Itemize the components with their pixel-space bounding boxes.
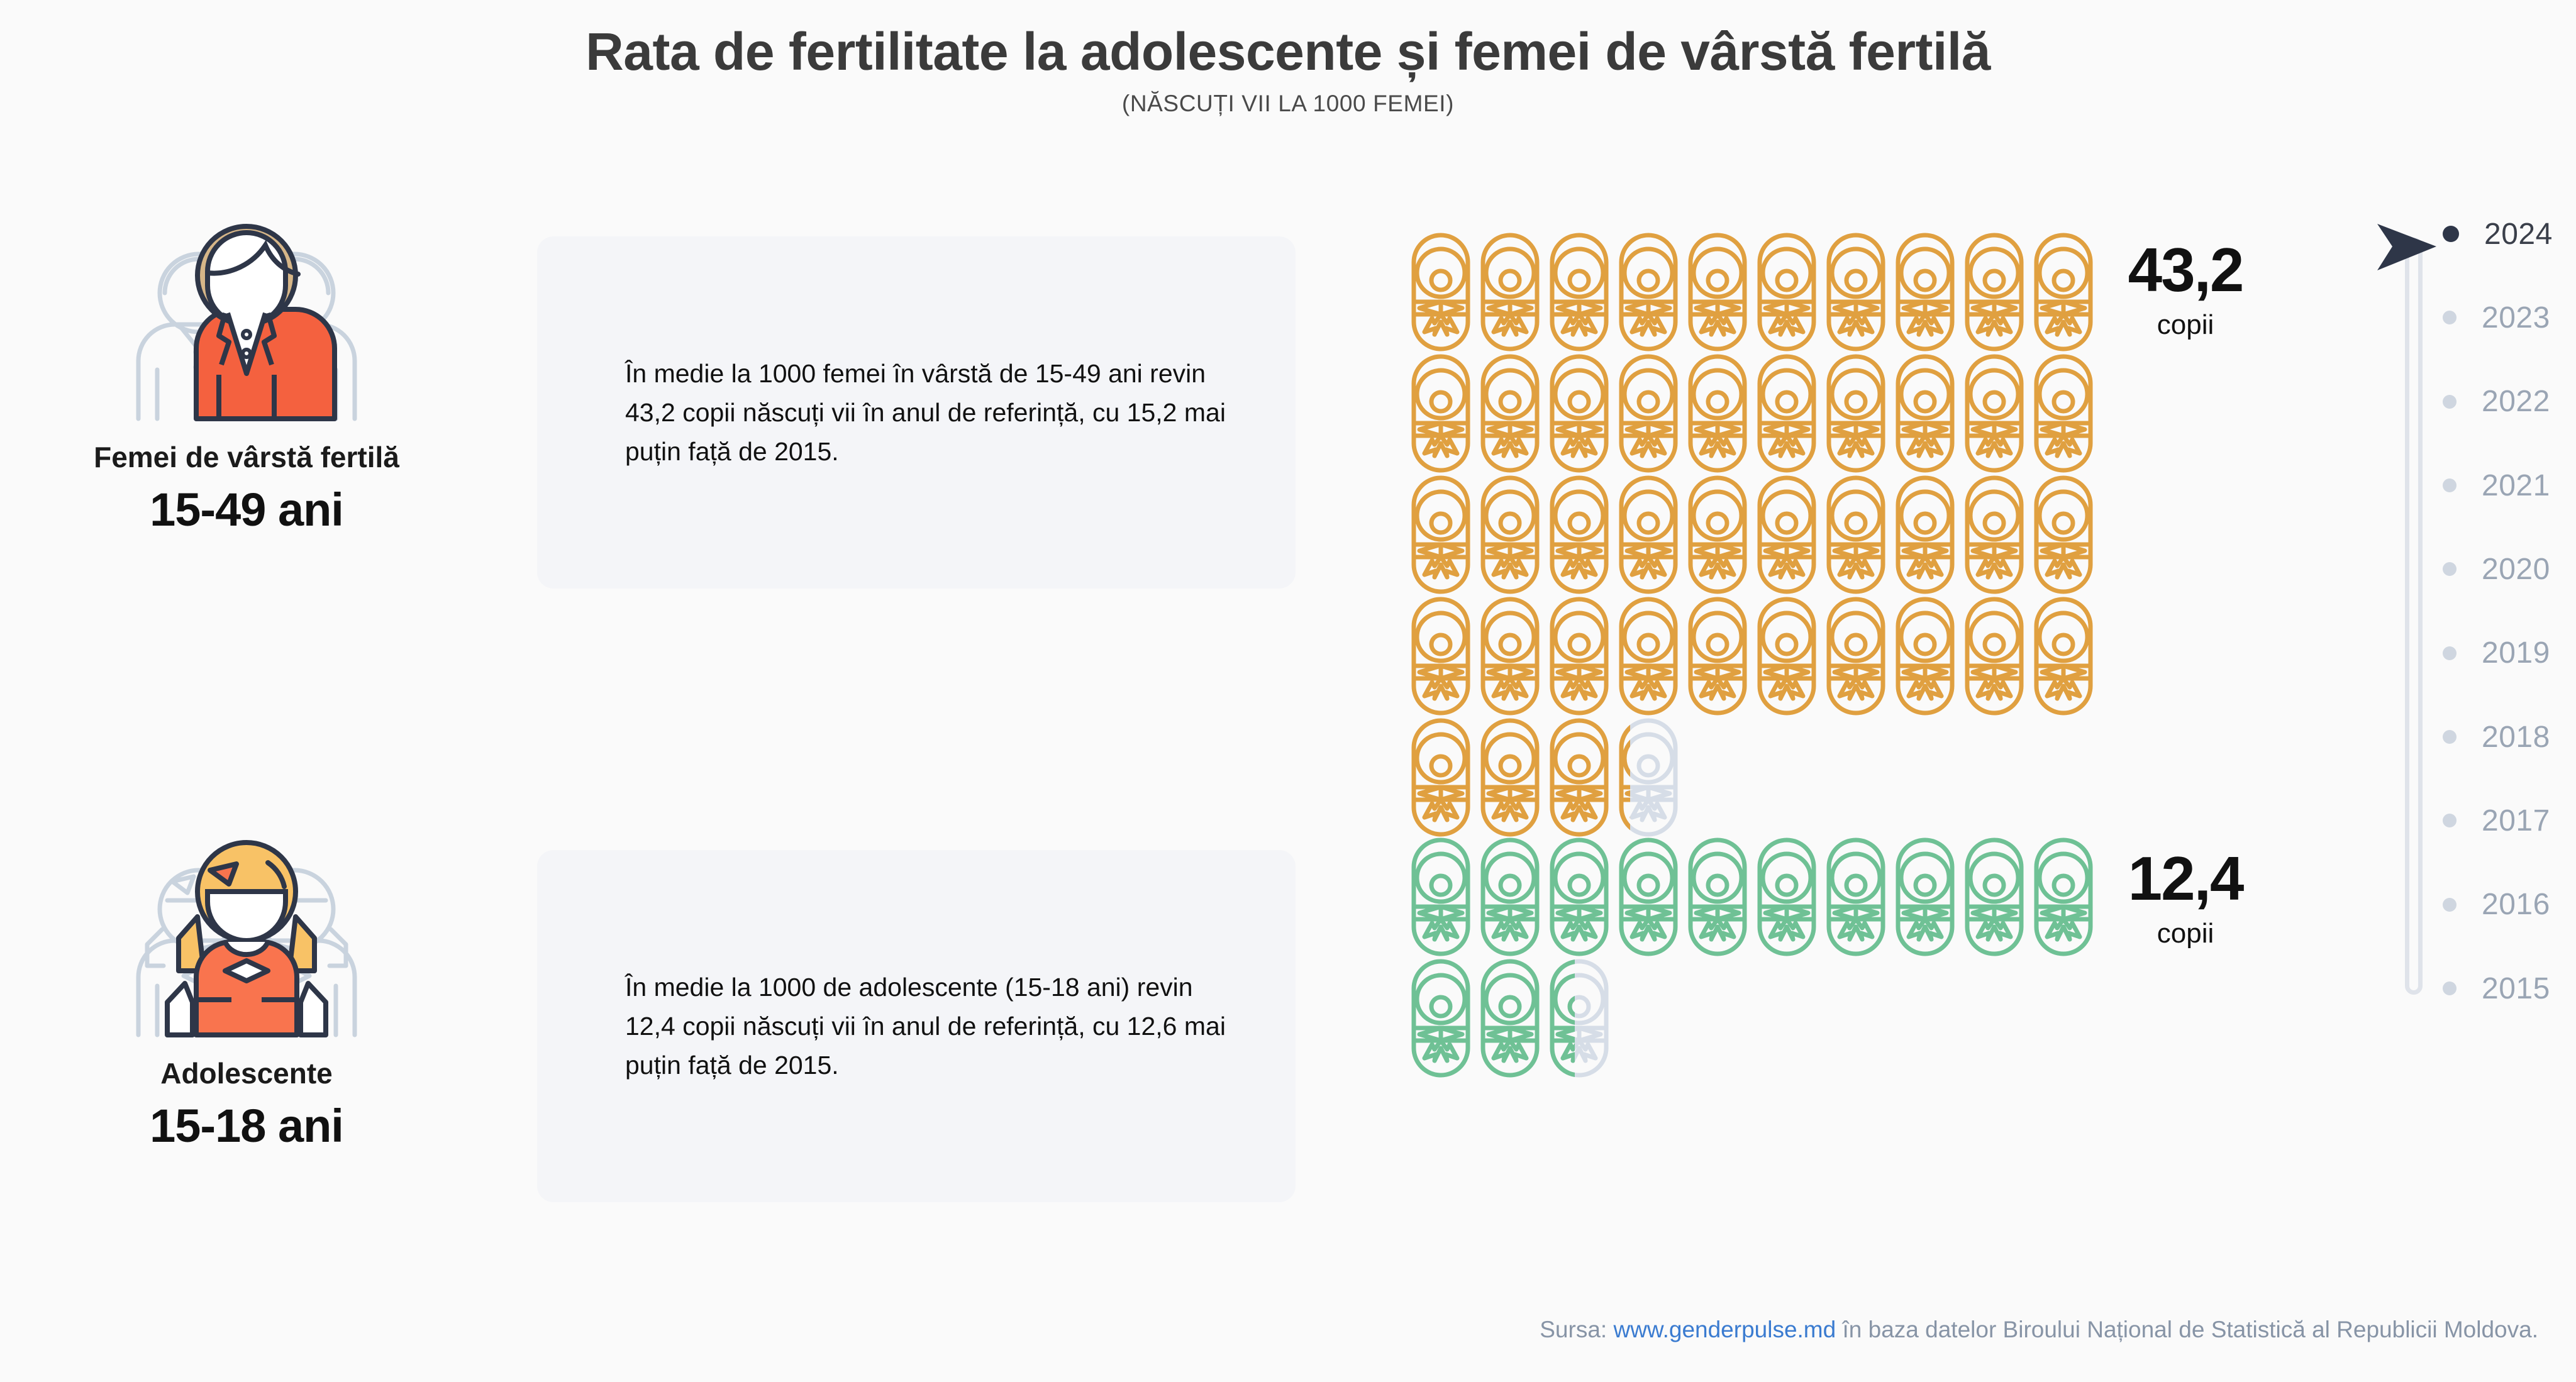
pictogram-icon bbox=[1824, 836, 1893, 958]
timeline-year-label: 2017 bbox=[2482, 804, 2550, 838]
timeline-year-label: 2018 bbox=[2482, 720, 2550, 755]
source-prefix: Sursa: bbox=[1540, 1317, 1613, 1342]
pictogram-icon-partial bbox=[1547, 958, 1616, 1079]
pictogram-icon-partial-fill bbox=[1616, 717, 1630, 838]
timeline-year-label: 2021 bbox=[2482, 468, 2550, 503]
pictogram-row bbox=[1409, 474, 2101, 595]
timeline-tick-2021[interactable]: 2021 bbox=[2443, 469, 2550, 502]
pictogram-icon-partial-fill bbox=[1547, 958, 1575, 1079]
timeline-tick-2016[interactable]: 2016 bbox=[2443, 888, 2550, 921]
pictogram-icon bbox=[1547, 353, 1616, 474]
pictogram-icon bbox=[1478, 595, 1547, 717]
timeline-year-label: 2015 bbox=[2482, 971, 2550, 1006]
persona-label: Adolescente bbox=[45, 1056, 448, 1090]
pictogram-icon bbox=[1409, 231, 1478, 353]
timeline-tick-2019[interactable]: 2019 bbox=[2443, 637, 2550, 670]
pictogram-icon bbox=[1409, 353, 1478, 474]
pictogram-icon bbox=[1755, 836, 1824, 958]
persona-adolescents: Adolescente 15-18 ani bbox=[45, 835, 448, 1153]
page-title: Rata de fertilitate la adolescente și fe… bbox=[0, 24, 2576, 79]
pictogram-icon bbox=[1616, 353, 1685, 474]
timeline-tick-2015[interactable]: 2015 bbox=[2443, 972, 2550, 1005]
value-block-adolescents: 12,4 copii bbox=[2094, 848, 2277, 949]
pictogram-icon bbox=[1616, 231, 1685, 353]
pictogram-row bbox=[1409, 231, 2101, 353]
value-unit: copii bbox=[2094, 309, 2277, 341]
pictogram-icon bbox=[1478, 836, 1547, 958]
pictogram-icon bbox=[1616, 836, 1685, 958]
pictogram-icon bbox=[1547, 474, 1616, 595]
pictogram-icon bbox=[1824, 595, 1893, 717]
pictogram-icon bbox=[1478, 717, 1547, 838]
timeline-tick-2023[interactable]: 2023 bbox=[2443, 301, 2550, 334]
pictogram-icon bbox=[1755, 595, 1824, 717]
timeline-dot bbox=[2443, 730, 2457, 744]
pictogram-icon bbox=[1962, 595, 2031, 717]
note-card-adolescents: În medie la 1000 de adolescente (15-18 a… bbox=[537, 850, 1296, 1202]
timeline-dot bbox=[2443, 478, 2457, 492]
pictogram-icon bbox=[1962, 231, 2031, 353]
highlighted-woman bbox=[196, 226, 335, 419]
pictogram-icon-partial bbox=[1616, 717, 1685, 838]
value-block-women: 43,2 copii bbox=[2094, 239, 2277, 341]
timeline-tick-2020[interactable]: 2020 bbox=[2443, 553, 2550, 585]
pictogram-icon bbox=[2031, 595, 2101, 717]
pictogram-icon bbox=[1409, 717, 1478, 838]
pictogram-icon bbox=[1478, 353, 1547, 474]
value-unit: copii bbox=[2094, 918, 2277, 949]
source-suffix: în baza datelor Biroului Național de Sta… bbox=[1836, 1317, 2538, 1342]
persona-label: Femei de vârstă fertilă bbox=[45, 440, 448, 474]
pictogram-icon bbox=[2031, 474, 2101, 595]
timeline-dot bbox=[2443, 311, 2457, 324]
timeline-year-label: 2016 bbox=[2482, 887, 2550, 922]
pictogram-icon bbox=[1409, 836, 1478, 958]
pictogram-icon bbox=[1755, 353, 1824, 474]
pictogram-grid-adolescents bbox=[1409, 836, 2101, 1079]
pictogram-icon bbox=[1962, 474, 2031, 595]
timeline-dot bbox=[2443, 646, 2457, 660]
note-text: În medie la 1000 de adolescente (15-18 a… bbox=[537, 968, 1296, 1085]
pictogram-icon bbox=[1755, 474, 1824, 595]
timeline-tick-2024[interactable]: 2024 bbox=[2443, 218, 2553, 250]
pictogram-icon bbox=[1893, 474, 1962, 595]
pictogram-icon bbox=[1962, 353, 2031, 474]
pictogram-icon bbox=[2031, 353, 2101, 474]
pictogram-icon bbox=[1893, 353, 1962, 474]
pictogram-icon bbox=[1547, 231, 1616, 353]
arrow-right-icon bbox=[2376, 219, 2451, 275]
pictogram-icon bbox=[1547, 717, 1616, 838]
pictogram-icon bbox=[1685, 474, 1755, 595]
pictogram-icon bbox=[1547, 836, 1616, 958]
source-footer: Sursa: www.genderpulse.md în baza datelo… bbox=[1540, 1317, 2538, 1343]
value-number: 43,2 bbox=[2094, 239, 2277, 301]
timeline-tick-2022[interactable]: 2022 bbox=[2443, 385, 2550, 418]
pictogram-icon bbox=[1478, 958, 1547, 1079]
timeline-tick-2018[interactable]: 2018 bbox=[2443, 721, 2550, 753]
pictogram-icon bbox=[1547, 595, 1616, 717]
pictogram-icon bbox=[1478, 231, 1547, 353]
timeline-dot bbox=[2443, 562, 2457, 576]
pictogram-icon bbox=[1893, 231, 1962, 353]
pictogram-row bbox=[1409, 595, 2101, 717]
header: Rata de fertilitate la adolescente și fe… bbox=[0, 24, 2576, 117]
teen-girls-group-icon bbox=[102, 835, 391, 1042]
timeline-year-label: 2020 bbox=[2482, 552, 2550, 587]
pictogram-grid-women bbox=[1409, 231, 2101, 838]
pictogram-icon bbox=[1824, 474, 1893, 595]
infographic-root: Rata de fertilitate la adolescente și fe… bbox=[0, 0, 2576, 1382]
pictogram-icon bbox=[1685, 353, 1755, 474]
pictogram-icon bbox=[1478, 474, 1547, 595]
persona-age-range: 15-18 ani bbox=[45, 1099, 448, 1153]
pictogram-row bbox=[1409, 353, 2101, 474]
pictogram-icon bbox=[1409, 958, 1478, 1079]
persona-age-range: 15-49 ani bbox=[45, 483, 448, 536]
value-number: 12,4 bbox=[2094, 848, 2277, 909]
pictogram-icon bbox=[1409, 595, 1478, 717]
persona-women-fertile: Femei de vârstă fertilă 15-49 ani bbox=[45, 219, 448, 536]
pictogram-icon bbox=[2031, 836, 2101, 958]
note-text: În medie la 1000 femei în vârstă de 15-4… bbox=[537, 354, 1296, 472]
timeline-dot bbox=[2443, 814, 2457, 827]
page-subtitle: (NĂSCUȚI VII LA 1000 FEMEI) bbox=[0, 91, 2576, 117]
timeline-year-label: 2019 bbox=[2482, 636, 2550, 670]
timeline-year-label: 2023 bbox=[2482, 301, 2550, 335]
timeline-tick-2017[interactable]: 2017 bbox=[2443, 804, 2550, 837]
pictogram-icon bbox=[1685, 595, 1755, 717]
timeline-dot bbox=[2443, 898, 2457, 912]
pictogram-icon bbox=[1685, 231, 1755, 353]
pictogram-icon bbox=[1824, 353, 1893, 474]
pictogram-icon bbox=[2031, 231, 2101, 353]
year-timeline[interactable]: 2024202320222021202020192018201720162015 bbox=[2390, 234, 2572, 1014]
timeline-track bbox=[2405, 238, 2423, 995]
timeline-dot bbox=[2443, 395, 2457, 409]
pictogram-row bbox=[1409, 958, 2101, 1079]
pictogram-icon bbox=[1962, 836, 2031, 958]
timeline-dot bbox=[2443, 226, 2459, 242]
pictogram-icon bbox=[1755, 231, 1824, 353]
pictogram-icon bbox=[1893, 595, 1962, 717]
pictogram-icon bbox=[1616, 595, 1685, 717]
pictogram-row bbox=[1409, 836, 2101, 958]
pictogram-icon bbox=[1409, 474, 1478, 595]
pictogram-icon bbox=[1893, 836, 1962, 958]
timeline-year-label: 2022 bbox=[2482, 384, 2550, 419]
note-card-women: În medie la 1000 femei în vârstă de 15-4… bbox=[537, 236, 1296, 589]
source-link[interactable]: www.genderpulse.md bbox=[1613, 1317, 1836, 1342]
pictogram-icon bbox=[1616, 474, 1685, 595]
pictogram-icon bbox=[1685, 836, 1755, 958]
women-group-icon bbox=[102, 219, 391, 426]
timeline-year-label: 2024 bbox=[2484, 217, 2553, 252]
pictogram-icon bbox=[1824, 231, 1893, 353]
pictogram-row bbox=[1409, 717, 2101, 838]
timeline-dot bbox=[2443, 981, 2457, 995]
